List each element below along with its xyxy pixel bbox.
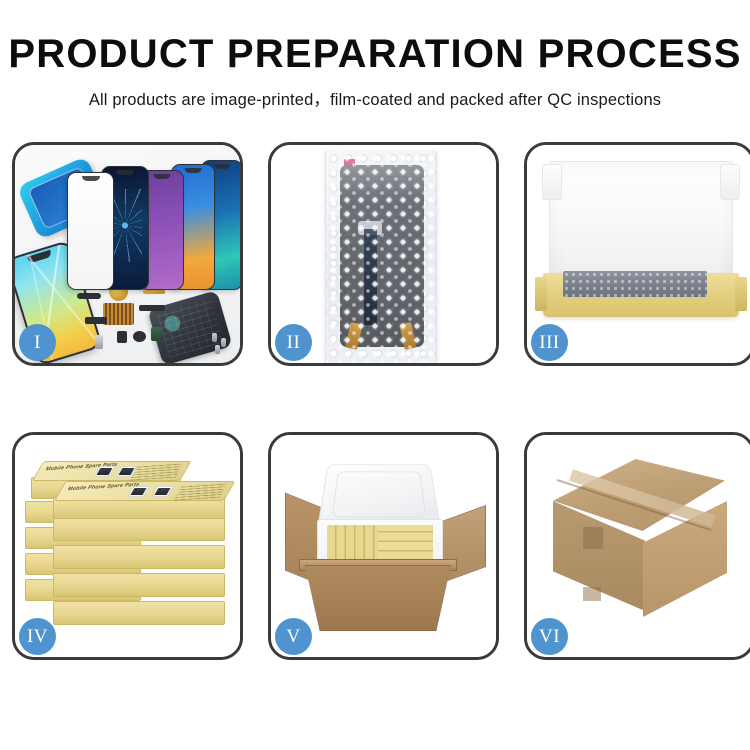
page-subtitle: All products are image-printed，film-coat… bbox=[0, 86, 750, 110]
carton-tab bbox=[583, 587, 601, 601]
chip-grid-icon bbox=[103, 303, 134, 325]
step-badge-1: I bbox=[19, 324, 56, 361]
process-step-1: I bbox=[12, 142, 243, 366]
stacked-box bbox=[53, 601, 225, 625]
screws-group bbox=[212, 333, 234, 355]
step-badge-2: II bbox=[275, 324, 312, 361]
bubble-wrap-bag bbox=[325, 151, 437, 363]
step-badge-4: IV bbox=[19, 618, 56, 655]
phone-display-fan bbox=[67, 155, 240, 290]
camera-module-icon bbox=[133, 331, 146, 342]
process-step-4: Mobile Phone Spare Parts Mobile Phone Sp… bbox=[12, 432, 243, 660]
flex-cable-icon bbox=[77, 293, 101, 299]
process-step-5: V bbox=[268, 432, 499, 660]
bubble-wrapped-contents bbox=[563, 271, 707, 297]
bubble-texture-overlay bbox=[326, 151, 436, 363]
notch-icon bbox=[185, 168, 202, 173]
spare-parts-cluster bbox=[77, 281, 197, 353]
carton-body bbox=[305, 565, 451, 631]
process-step-2: II bbox=[268, 142, 499, 366]
flex-cable-icon bbox=[139, 305, 165, 311]
flex-cable-icon bbox=[85, 317, 107, 324]
spec-text-lines bbox=[174, 482, 227, 500]
notch-icon bbox=[214, 164, 230, 169]
product-preparation-infographic: PRODUCT PREPARATION PROCESS All products… bbox=[0, 0, 750, 750]
small-part-icon bbox=[117, 331, 127, 343]
step-badge-6: VI bbox=[531, 618, 568, 655]
notch-icon bbox=[116, 170, 134, 175]
notch-icon bbox=[82, 176, 100, 181]
screw-icon bbox=[221, 338, 226, 347]
header: PRODUCT PREPARATION PROCESS All products… bbox=[0, 0, 750, 110]
stacked-box bbox=[53, 517, 225, 541]
spec-text-lines bbox=[130, 462, 183, 480]
box-lid-printed: Mobile Phone Spare Parts bbox=[54, 481, 236, 501]
screw-icon bbox=[212, 333, 217, 342]
page-title: PRODUCT PREPARATION PROCESS bbox=[0, 33, 750, 75]
stacked-box-top-front: Mobile Phone Spare Parts bbox=[53, 497, 225, 519]
box-stack: Mobile Phone Spare Parts Mobile Phone Sp… bbox=[25, 457, 231, 637]
screw-icon bbox=[215, 345, 220, 354]
process-step-6: VI bbox=[524, 432, 750, 660]
stacked-box bbox=[53, 545, 225, 569]
box-lid-printed: Mobile Phone Spare Parts bbox=[32, 461, 192, 481]
process-step-grid: I II bbox=[12, 142, 738, 660]
product-thumbnail-icon bbox=[151, 486, 173, 497]
foam-sheet bbox=[563, 203, 721, 273]
sim-tray-icon bbox=[95, 335, 103, 349]
notch-icon bbox=[153, 174, 170, 179]
stacked-box bbox=[53, 573, 225, 597]
step-badge-5: V bbox=[275, 618, 312, 655]
process-step-3: III bbox=[524, 142, 750, 366]
battery-part-icon bbox=[151, 327, 161, 341]
phone-display-white bbox=[67, 172, 114, 290]
carton-tab bbox=[583, 527, 603, 549]
step-badge-3: III bbox=[531, 324, 568, 361]
